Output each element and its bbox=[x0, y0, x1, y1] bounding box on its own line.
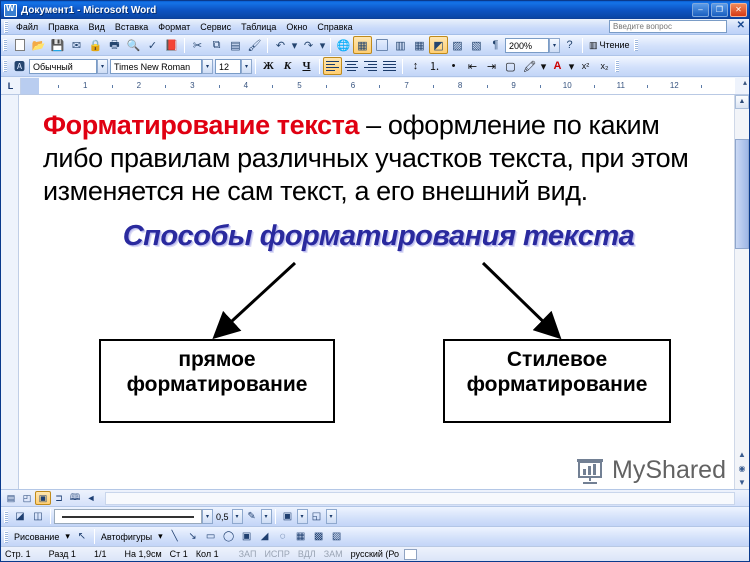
autoshapes-menu-button[interactable]: Автофигуры bbox=[98, 532, 155, 542]
decrease-indent-button[interactable]: ⇤ bbox=[463, 57, 482, 75]
style-dropdown-icon[interactable]: ▾ bbox=[97, 59, 108, 74]
menu-item-tools[interactable]: Сервис bbox=[195, 21, 236, 33]
status-column: Кол 1 bbox=[196, 549, 221, 559]
body-paragraph: Форматирование текста – оформление по ка… bbox=[43, 109, 714, 208]
spelling-status-icon[interactable] bbox=[404, 549, 417, 560]
scroll-up-button[interactable]: ▲ bbox=[735, 95, 749, 109]
numbering-button[interactable]: ⒈ bbox=[425, 57, 444, 75]
superscript-button[interactable]: x² bbox=[576, 57, 595, 75]
myshared-watermark: MyShared bbox=[575, 456, 726, 485]
close-question-box-icon[interactable]: ✕ bbox=[737, 20, 745, 31]
status-page: Стр. 1 bbox=[5, 549, 33, 559]
arrow-tool-icon[interactable]: ↘ bbox=[184, 528, 202, 545]
shadow-style-icon[interactable]: ▣ bbox=[279, 508, 297, 525]
insert-wordart-icon[interactable]: ◪ bbox=[11, 508, 29, 525]
menu-item-file[interactable]: Файл bbox=[11, 21, 43, 33]
align-center-icon bbox=[345, 61, 358, 72]
zoom-value[interactable]: 200% bbox=[505, 38, 549, 53]
document-structure-icon[interactable]: ▧ bbox=[467, 36, 486, 54]
ruler-number: 4 bbox=[244, 81, 248, 90]
align-right-icon bbox=[364, 61, 377, 72]
word-document-icon bbox=[4, 4, 17, 17]
insert-wordart-tool-icon[interactable]: ◢ bbox=[256, 528, 274, 545]
ruler-number: 10 bbox=[563, 81, 572, 90]
menu-item-edit[interactable]: Правка bbox=[43, 21, 83, 33]
justify-button[interactable] bbox=[380, 57, 399, 75]
bold-button[interactable]: Ж bbox=[259, 57, 278, 75]
horizontal-ruler[interactable]: L 1 2 3 4 5 6 7 8 9 10 11 12 ▴ bbox=[1, 77, 749, 95]
select-browse-object-icon[interactable]: ◉ bbox=[735, 461, 749, 475]
scroll-thumb[interactable] bbox=[735, 139, 749, 249]
status-line: Ст 1 bbox=[170, 549, 190, 559]
web-layout-view-button[interactable]: ◰ bbox=[19, 491, 35, 505]
menu-item-window[interactable]: Окно bbox=[281, 21, 312, 33]
box-line-1: Стилевое bbox=[449, 347, 665, 372]
ruler-number: 7 bbox=[404, 81, 408, 90]
formatting-toolbar: 🅰 Обычный ▾ Times New Roman ▾ 12 ▾ Ж К Ч… bbox=[1, 56, 749, 77]
ruler-number: 6 bbox=[351, 81, 355, 90]
cut-icon[interactable]: ✂ bbox=[188, 36, 207, 54]
insert-excel-sheet-icon[interactable] bbox=[372, 36, 391, 54]
highlight-button[interactable]: 🖍 bbox=[520, 57, 539, 75]
highlighted-term: Форматирование текста bbox=[43, 110, 359, 140]
restore-button[interactable]: ❐ bbox=[711, 3, 728, 17]
help-icon[interactable]: ? bbox=[560, 36, 579, 54]
diagram-group[interactable]: прямое форматирование Стилевое форматиро… bbox=[43, 257, 714, 437]
oval-tool-icon[interactable]: ◯ bbox=[220, 528, 238, 545]
status-indicator-ext[interactable]: ВДЛ bbox=[298, 549, 318, 559]
line-style-dropdown-icon[interactable]: ▾ bbox=[202, 509, 213, 524]
line-style-select[interactable] bbox=[54, 509, 202, 524]
paragraph-style-select[interactable]: Обычный bbox=[29, 59, 97, 74]
diagram-box-style-formatting[interactable]: Стилевое форматирование bbox=[443, 339, 671, 423]
ruler-scroll-up-icon[interactable]: ▴ bbox=[743, 78, 747, 87]
menu-drag-handle[interactable] bbox=[4, 21, 8, 33]
line-width-value[interactable]: 0,5 bbox=[213, 512, 232, 522]
status-page-count: 1/1 bbox=[94, 549, 109, 559]
formatting-overflow-handle[interactable] bbox=[615, 60, 619, 72]
text-box-tool-icon[interactable]: ▣ bbox=[238, 528, 256, 545]
line-tool-icon[interactable]: ╲ bbox=[166, 528, 184, 545]
draw-menu-button[interactable]: Рисование bbox=[11, 532, 62, 542]
horizontal-scroll-left-button[interactable]: ◄ bbox=[83, 491, 99, 505]
drawing-toolbar-handle[interactable] bbox=[4, 531, 8, 543]
status-indicator-trk[interactable]: ИСПР bbox=[264, 549, 291, 559]
bullets-button[interactable]: • bbox=[444, 57, 463, 75]
bold-label: Ж bbox=[263, 60, 274, 72]
ruler-number: 2 bbox=[137, 81, 141, 90]
toolbar-overflow-handle[interactable] bbox=[634, 39, 638, 51]
autoshapes-dropdown-icon[interactable]: ▾ bbox=[155, 531, 166, 542]
zoom-dropdown-icon[interactable]: ▾ bbox=[549, 38, 560, 53]
redo-icon[interactable]: ↷ bbox=[299, 36, 318, 54]
title-bar: Документ1 - Microsoft Word – ❐ ✕ bbox=[1, 1, 749, 19]
print-layout-view-button[interactable]: ▣ bbox=[35, 491, 51, 505]
word-application-window: Документ1 - Microsoft Word – ❐ ✕ Файл Пр… bbox=[0, 0, 750, 562]
shadow-dropdown-icon[interactable]: ▾ bbox=[297, 509, 308, 524]
ask-a-question-input[interactable]: Введите вопрос bbox=[609, 20, 727, 33]
line-toolbar-handle[interactable] bbox=[4, 511, 8, 523]
insert-diagram-tool-icon[interactable]: ◌ bbox=[274, 528, 292, 545]
font-color-button[interactable]: A bbox=[548, 57, 567, 75]
formatting-toolbar-handle[interactable] bbox=[3, 60, 7, 72]
status-language[interactable]: русский (Ро bbox=[351, 549, 401, 559]
watermark-text: MyShared bbox=[612, 456, 726, 485]
status-bar: Стр. 1 Разд 1 1/1 На 1,9см Ст 1 Кол 1 ЗА… bbox=[1, 546, 749, 561]
font-size-select[interactable]: 12 bbox=[215, 59, 241, 74]
presentation-chart-icon bbox=[575, 458, 605, 484]
line-style-toolbar: ◪ ◫ ▾ 0,5 ▾ ✎ ▾ ▣ ▾ ◱ ▾ bbox=[1, 506, 749, 526]
diagram-box-direct-formatting[interactable]: прямое форматирование bbox=[99, 339, 335, 423]
select-objects-icon[interactable]: ↖ bbox=[73, 528, 91, 545]
wordart-heading: Способы форматирования текста bbox=[43, 220, 714, 253]
italic-label: К bbox=[284, 60, 291, 72]
paste-icon[interactable]: ▤ bbox=[226, 36, 245, 54]
standard-toolbar: 📂 💾 ✉ 🔒 🖶 🔍 ✓ 📕 ✂ ⧉ ▤ 🖌 ↶ ▾ ↷ ▾ 🌐 ▦ ▥ ▦ … bbox=[1, 35, 749, 56]
columns-icon[interactable]: ▥ bbox=[391, 36, 410, 54]
menu-bar: Файл Правка Вид Вставка Формат Сервис Та… bbox=[1, 19, 749, 35]
ruler-number: 5 bbox=[297, 81, 301, 90]
align-left-icon bbox=[326, 61, 339, 72]
previous-page-icon[interactable]: ▲ bbox=[735, 447, 749, 461]
new-document-icon[interactable] bbox=[10, 36, 29, 54]
box-line-1: прямое bbox=[105, 347, 329, 372]
copy-icon[interactable]: ⧉ bbox=[207, 36, 226, 54]
next-page-icon[interactable]: ▼ bbox=[735, 475, 749, 489]
align-right-button[interactable] bbox=[361, 57, 380, 75]
subscript-button[interactable]: x₂ bbox=[595, 57, 614, 75]
status-indicator-rec[interactable]: ЗАП bbox=[239, 549, 259, 559]
document-work-area: Форматирование текста – оформление по ка… bbox=[1, 95, 749, 489]
italic-button[interactable]: К bbox=[278, 57, 297, 75]
permission-icon[interactable]: 🔒 bbox=[86, 36, 105, 54]
draw-menu-dropdown-icon[interactable]: ▾ bbox=[62, 531, 73, 542]
font-name-select[interactable]: Times New Roman bbox=[110, 59, 202, 74]
tab-stop-selector[interactable]: L bbox=[1, 78, 21, 94]
save-icon[interactable]: 💾 bbox=[48, 36, 67, 54]
underline-button[interactable]: Ч bbox=[297, 57, 316, 75]
open-folder-icon[interactable]: 📂 bbox=[29, 36, 48, 54]
highlight-dropdown-icon[interactable]: ▾ bbox=[539, 57, 548, 75]
ruler-number: 3 bbox=[190, 81, 194, 90]
menu-item-table[interactable]: Таблица bbox=[236, 21, 281, 33]
insert-table-icon[interactable]: ▦ bbox=[353, 36, 372, 54]
menu-item-help[interactable]: Справка bbox=[312, 21, 357, 33]
box-line-2: форматирование bbox=[449, 372, 665, 397]
rectangle-tool-icon[interactable]: ▭ bbox=[202, 528, 220, 545]
print-icon[interactable]: 🖶 bbox=[105, 36, 124, 54]
ruler-track[interactable]: 1 2 3 4 5 6 7 8 9 10 11 12 bbox=[21, 78, 735, 94]
horizontal-scrollbar[interactable] bbox=[105, 492, 735, 505]
reading-layout-view-button[interactable]: 🕮 bbox=[67, 491, 83, 505]
close-button[interactable]: ✕ bbox=[730, 3, 747, 17]
insert-hyperlink-icon[interactable]: 🌐 bbox=[334, 36, 353, 54]
font-dropdown-icon[interactable]: ▾ bbox=[202, 59, 213, 74]
insert-clipart-tool-icon[interactable]: ▦ bbox=[292, 528, 310, 545]
window-controls: – ❐ ✕ bbox=[692, 3, 747, 17]
spelling-check-icon[interactable]: ✓ bbox=[143, 36, 162, 54]
show-formatting-icon[interactable]: ¶ bbox=[486, 36, 505, 54]
mail-recipient-icon[interactable]: ✉ bbox=[67, 36, 86, 54]
reading-layout-icon: ▥ bbox=[589, 40, 598, 51]
undo-icon[interactable]: ↶ bbox=[271, 36, 290, 54]
line-color-icon[interactable]: ✎ bbox=[243, 508, 261, 525]
outside-border-button[interactable]: ▢ bbox=[501, 57, 520, 75]
3d-dropdown-icon[interactable]: ▾ bbox=[326, 509, 337, 524]
ruler-number: 8 bbox=[458, 81, 462, 90]
left-indent-marker[interactable] bbox=[21, 78, 39, 94]
document-map-icon[interactable]: ▦ bbox=[410, 36, 429, 54]
increase-indent-button[interactable]: ⇥ bbox=[482, 57, 501, 75]
window-title: Документ1 - Microsoft Word bbox=[21, 5, 156, 16]
line-preview bbox=[62, 516, 194, 518]
standard-toolbar-handle[interactable] bbox=[3, 39, 7, 51]
print-preview-icon[interactable]: 🔍 bbox=[124, 36, 143, 54]
align-center-button[interactable] bbox=[342, 57, 361, 75]
ruler-number: 9 bbox=[511, 81, 515, 90]
3d-style-icon[interactable]: ◱ bbox=[308, 508, 326, 525]
drawing-toolbar: Рисование ▾ ↖ Автофигуры ▾ ╲ ↘ ▭ ◯ ▣ ◢ ◌… bbox=[1, 526, 749, 546]
styles-and-formatting-icon[interactable]: 🅰 bbox=[10, 57, 29, 75]
status-indicator-ovr[interactable]: ЗАМ bbox=[324, 549, 345, 559]
justify-icon bbox=[383, 61, 396, 72]
insert-diagram-icon[interactable]: ◫ bbox=[29, 508, 47, 525]
font-size-dropdown-icon[interactable]: ▾ bbox=[241, 59, 252, 74]
show-picture-icon[interactable]: ▨ bbox=[448, 36, 467, 54]
underline-label: Ч bbox=[302, 60, 310, 72]
vertical-scrollbar[interactable]: ▲ ▲ ◉ ▼ bbox=[734, 95, 749, 489]
menu-item-view[interactable]: Вид bbox=[84, 21, 110, 33]
font-color-dropdown-icon[interactable]: ▾ bbox=[567, 57, 576, 75]
align-left-button[interactable] bbox=[323, 57, 342, 75]
view-buttons-bar: ▤ ◰ ▣ ⊐ 🕮 ◄ bbox=[1, 489, 749, 506]
document-content: Форматирование текста – оформление по ка… bbox=[19, 95, 734, 437]
document-page[interactable]: Форматирование текста – оформление по ка… bbox=[19, 95, 734, 489]
outline-view-button[interactable]: ⊐ bbox=[51, 491, 67, 505]
research-icon[interactable]: 📕 bbox=[162, 36, 181, 54]
font-color-icon: A bbox=[554, 60, 562, 72]
ruler-number: 1 bbox=[83, 81, 87, 90]
insert-picture-tool-icon[interactable]: ▩ bbox=[310, 528, 328, 545]
menu-item-format[interactable]: Формат bbox=[153, 21, 195, 33]
menu-item-insert[interactable]: Вставка bbox=[110, 21, 153, 33]
box-line-2: форматирование bbox=[105, 372, 329, 397]
status-vertical-position: На 1,9см bbox=[124, 549, 163, 559]
format-painter-icon[interactable]: 🖌 bbox=[245, 36, 264, 54]
vertical-ruler-area bbox=[1, 95, 19, 489]
line-spacing-button[interactable]: ↕ bbox=[406, 57, 425, 75]
redo-dropdown-icon[interactable]: ▾ bbox=[318, 36, 327, 54]
drawing-toggle-icon[interactable]: ◩ bbox=[429, 36, 448, 54]
fill-color-tool-icon[interactable]: ▧ bbox=[328, 528, 346, 545]
status-section: Разд 1 bbox=[49, 549, 78, 559]
ruler-number: 11 bbox=[617, 81, 625, 90]
line-color-dropdown-icon[interactable]: ▾ bbox=[261, 509, 272, 524]
undo-dropdown-icon[interactable]: ▾ bbox=[290, 36, 299, 54]
reading-layout-button[interactable]: ▥ Чтение bbox=[586, 39, 633, 52]
line-width-dropdown-icon[interactable]: ▾ bbox=[232, 509, 243, 524]
ruler-number: 12 bbox=[670, 81, 679, 90]
minimize-button[interactable]: – bbox=[692, 3, 709, 17]
reading-layout-label: Чтение bbox=[600, 40, 630, 50]
normal-view-button[interactable]: ▤ bbox=[3, 491, 19, 505]
